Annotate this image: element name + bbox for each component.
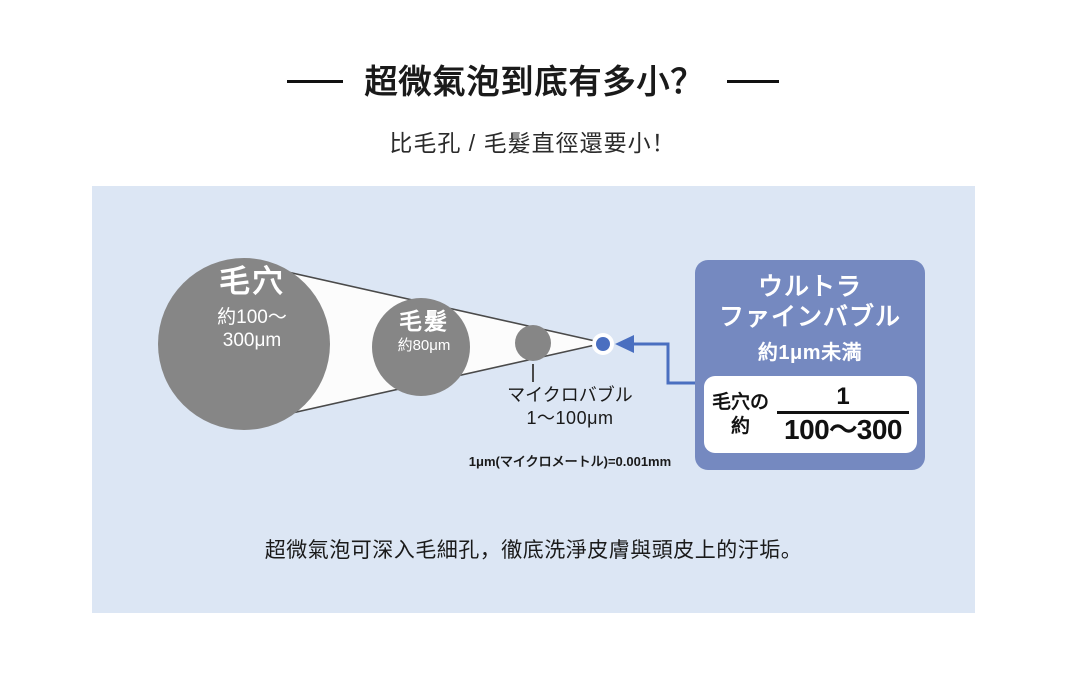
unit-footnote: 1μm(マイクロメートル)=0.001mm [410,451,730,470]
page-subtitle: 比毛孔 / 毛髮直徑還要小！ [0,124,1065,158]
fraction-denominator: 100〜300 [784,415,902,446]
fraction-numerator: 1 [836,384,849,409]
microbubble-label-name: マイクロバブル [460,384,680,407]
callout-title-line2: ファインバブル [695,303,925,333]
ratio-label: 毛穴の 約 [712,391,769,439]
microbubble-circle [515,325,551,361]
callout-title-line1: ウルトラ [695,273,925,303]
callout-arrow-head-icon [615,335,634,353]
microbubble-label-size: 1〜100μm [460,407,680,430]
hair-circle [372,298,470,396]
ratio-label-line1: 毛穴の [712,391,769,415]
callout-title: ウルトラ ファインバブル [695,273,925,332]
ultrafine-bubble-callout: ウルトラ ファインバブル 約1μm未満 毛穴の 約 1 100〜300 [695,260,925,470]
info-panel: 毛穴 約100〜 300μm 毛髮 約80μm マイクロバブル 1〜100μm … [92,186,975,613]
ultrafine-bubble-dot [596,337,610,351]
pore-circle [158,258,330,430]
page-title: 超微氣泡到底有多小？ [365,62,705,102]
ratio-box: 毛穴の 約 1 100〜300 [704,376,917,453]
title-dash-right-icon [727,80,779,83]
ratio-fraction: 1 100〜300 [777,384,909,446]
size-comparison-diagram: 毛穴 約100〜 300μm 毛髮 約80μm マイクロバブル 1〜100μm … [92,186,975,516]
microbubble-label: マイクロバブル 1〜100μm [460,384,680,431]
callout-connector-line [625,344,695,383]
ratio-label-line2: 約 [712,415,769,439]
panel-caption: 超微氣泡可深入毛細孔，徹底洗淨皮膚與頭皮上的汙垢。 [92,534,975,564]
title-row: 超微氣泡到底有多小？ [0,62,1065,102]
title-dash-left-icon [287,80,343,83]
callout-subtitle: 約1μm未満 [695,336,925,365]
